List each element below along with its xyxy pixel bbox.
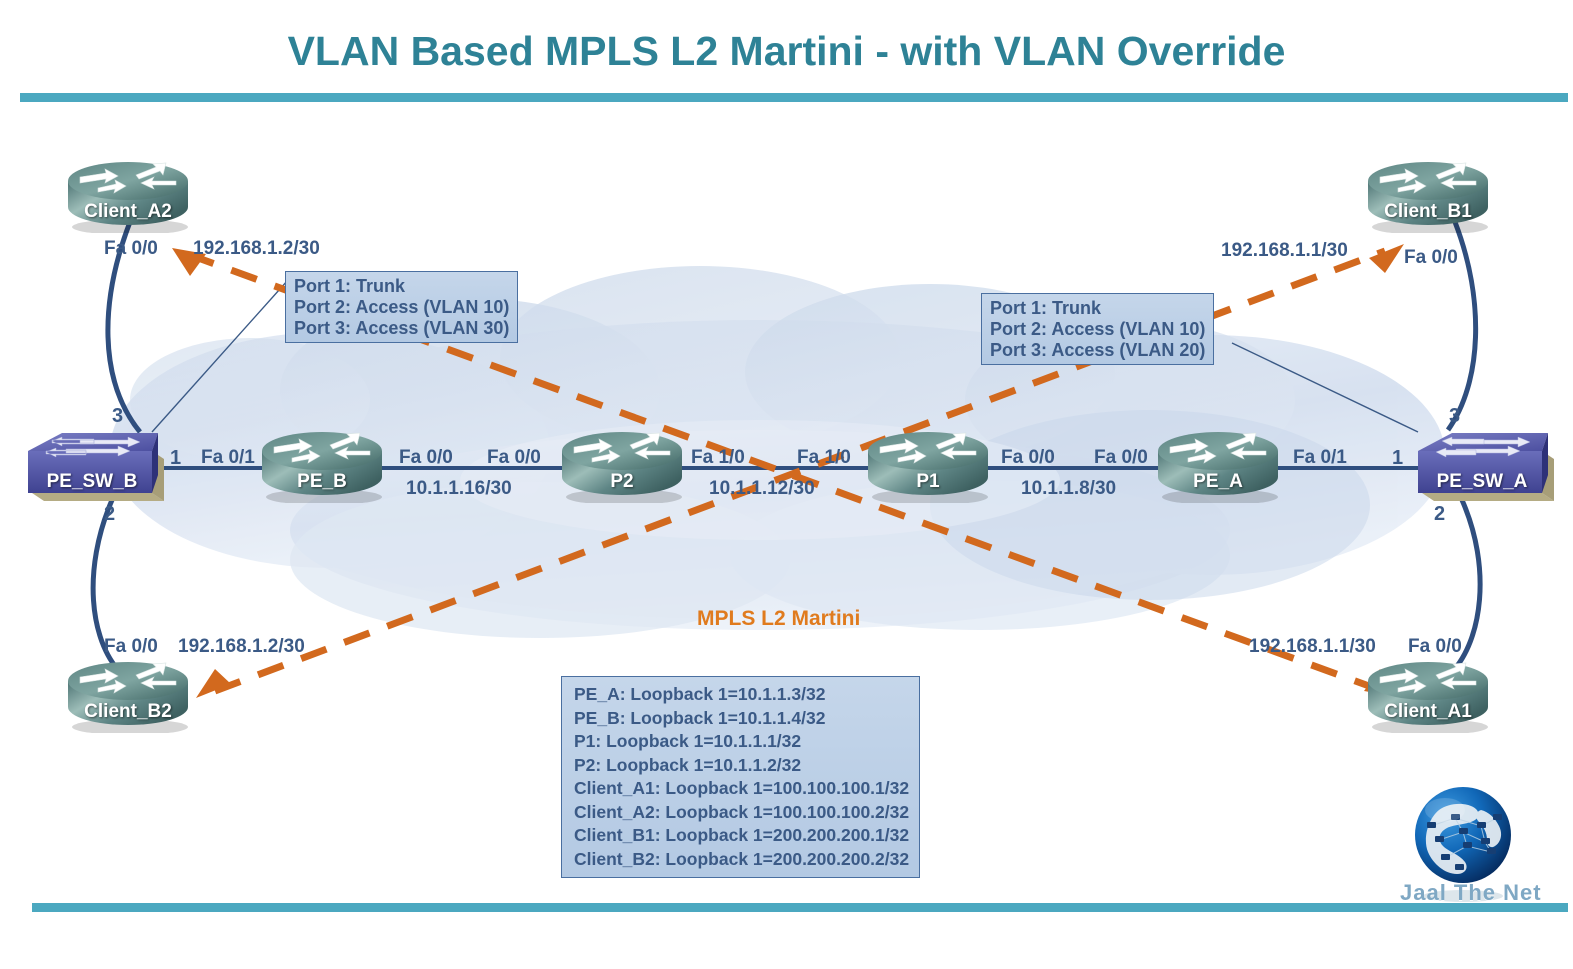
loopback-line: Client_B2: Loopback 1=200.200.200.2/32 (574, 848, 909, 872)
label-p1-fa00: Fa 0/0 (1001, 447, 1055, 469)
mpls-l2-martini-label: MPLS L2 Martini (697, 607, 860, 631)
label-p2-fa00: Fa 0/0 (487, 447, 541, 469)
router-icon (1362, 155, 1494, 233)
loopback-line: PE_B: Loopback 1=10.1.1.4/32 (574, 707, 909, 731)
label-pea-fa01: Fa 0/1 (1293, 447, 1347, 469)
switch-icon (1408, 427, 1556, 505)
loopback-summary-box: PE_A: Loopback 1=10.1.1.3/32 PE_B: Loopb… (561, 676, 920, 878)
vlan-config-box-swb: Port 1: Trunk Port 2: Access (VLAN 10) P… (285, 271, 518, 343)
node-p2[interactable]: P2 (556, 425, 688, 503)
vlan-config-box-swa: Port 1: Trunk Port 2: Access (VLAN 10) P… (981, 293, 1214, 365)
loopback-line: Client_A1: Loopback 1=100.100.100.1/32 (574, 777, 909, 801)
loopback-line: P1: Loopback 1=10.1.1.1/32 (574, 730, 909, 754)
leader-vlanbox-b (152, 280, 288, 432)
loopback-line: P2: Loopback 1=10.1.1.2/32 (574, 754, 909, 778)
port-swa-2: 2 (1434, 503, 1445, 526)
label-p1-fa10: Fa 1/0 (797, 447, 851, 469)
label-link-p2-p1: 10.1.1.12/30 (709, 478, 815, 500)
loopback-line: PE_A: Loopback 1=10.1.1.3/32 (574, 683, 909, 707)
router-icon (862, 425, 994, 503)
leader-vlanbox-a (1232, 343, 1418, 432)
diagram-canvas: VLAN Based MPLS L2 Martini - with VLAN O… (0, 0, 1573, 969)
loopback-line: Client_B1: Loopback 1=200.200.200.1/32 (574, 824, 909, 848)
router-icon (62, 155, 194, 233)
vlan-b-line-1: Port 1: Trunk (294, 276, 509, 297)
port-swa-1: 1 (1392, 447, 1403, 470)
node-client-a2[interactable]: Client_A2 (62, 155, 194, 233)
switch-icon (18, 427, 166, 505)
node-pe-b[interactable]: PE_B (256, 425, 388, 503)
vlan-b-line-2: Port 2: Access (VLAN 10) (294, 297, 509, 318)
router-icon (62, 655, 194, 733)
logo-text: Jaal The Net (1400, 880, 1542, 906)
node-pe-sw-b[interactable]: PE_SW_B (18, 427, 166, 505)
label-b2-fa: Fa 0/0 (104, 636, 158, 658)
label-pea-fa00: Fa 0/0 (1094, 447, 1148, 469)
port-swb-3: 3 (112, 405, 123, 428)
vlan-a-line-3: Port 3: Access (VLAN 20) (990, 340, 1205, 361)
pseudowire-b-arrow-left (196, 669, 231, 698)
router-icon (556, 425, 688, 503)
node-client-a1[interactable]: Client_A1 (1362, 655, 1494, 733)
port-swb-1: 1 (170, 447, 181, 470)
label-b1-ip: 192.168.1.1/30 (1221, 240, 1348, 262)
vlan-b-line-3: Port 3: Access (VLAN 30) (294, 318, 509, 339)
router-icon (256, 425, 388, 503)
vlan-a-line-1: Port 1: Trunk (990, 298, 1205, 319)
router-icon (1362, 655, 1494, 733)
label-a1-fa: Fa 0/0 (1408, 636, 1462, 658)
router-icon (1152, 425, 1284, 503)
port-swa-3: 3 (1449, 405, 1460, 428)
node-client-b1[interactable]: Client_B1 (1362, 155, 1494, 233)
label-a1-ip: 192.168.1.1/30 (1249, 636, 1376, 658)
loopback-line: Client_A2: Loopback 1=100.100.100.2/32 (574, 801, 909, 825)
node-pe-sw-a[interactable]: PE_SW_A (1408, 427, 1556, 505)
label-b2-ip: 192.168.1.2/30 (178, 636, 305, 658)
label-link-p1-pea: 10.1.1.8/30 (1021, 478, 1116, 500)
node-p1[interactable]: P1 (862, 425, 994, 503)
label-peb-fa00: Fa 0/0 (399, 447, 453, 469)
port-swb-2: 2 (104, 503, 115, 526)
label-a2-fa: Fa 0/0 (104, 238, 158, 260)
label-p2-fa10: Fa 1/0 (691, 447, 745, 469)
node-pe-a[interactable]: PE_A (1152, 425, 1284, 503)
pseudowire-b-arrow-right (1369, 244, 1404, 273)
label-swb-fa01: Fa 0/1 (201, 447, 255, 469)
vlan-a-line-2: Port 2: Access (VLAN 10) (990, 319, 1205, 340)
label-a2-ip: 192.168.1.2/30 (193, 238, 320, 260)
node-client-b2[interactable]: Client_B2 (62, 655, 194, 733)
label-b1-fa: Fa 0/0 (1404, 247, 1458, 269)
label-link-peb-p2: 10.1.1.16/30 (406, 478, 512, 500)
